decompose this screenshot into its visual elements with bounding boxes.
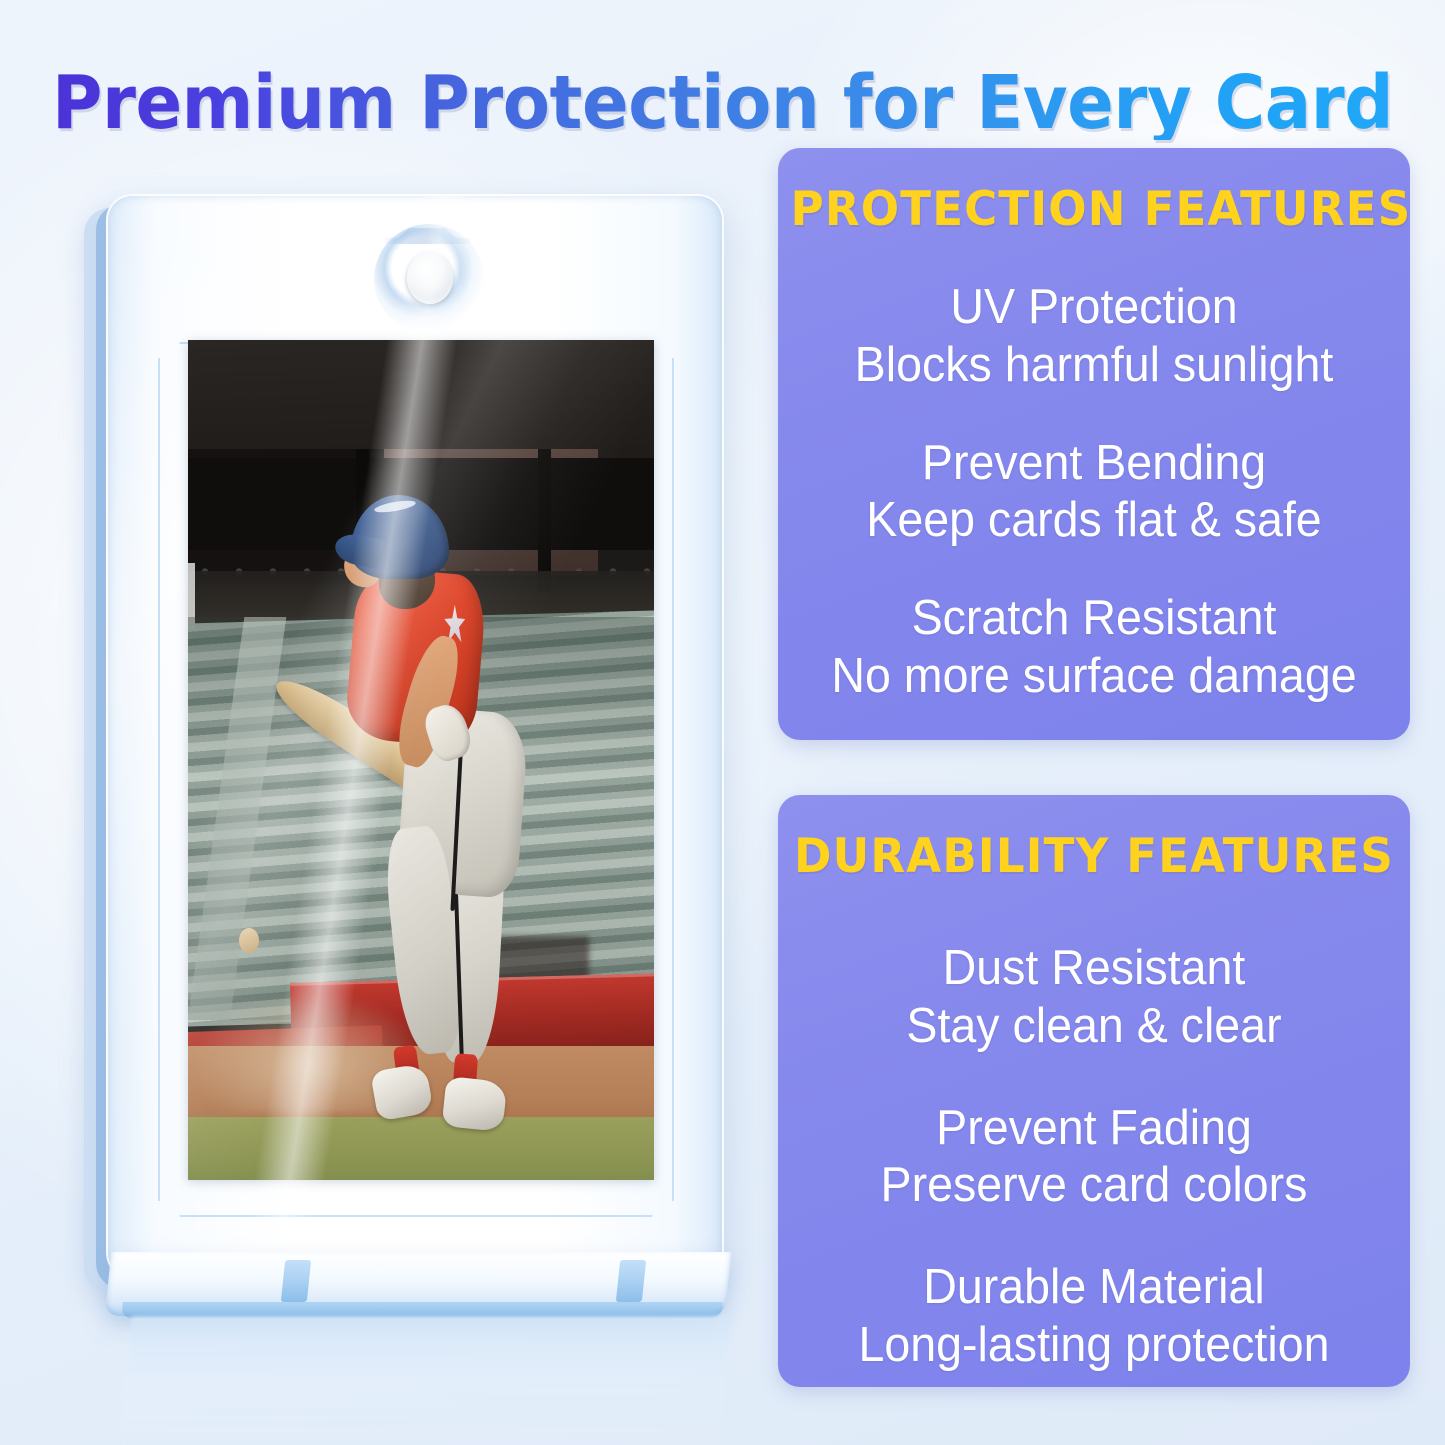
batter-cleat xyxy=(370,1062,434,1121)
feature-desc: Preserve card colors xyxy=(794,1157,1394,1215)
feature-item: UV Protection Blocks harmful sunlight xyxy=(778,279,1410,395)
protection-feature-list: UV Protection Blocks harmful sunlight Pr… xyxy=(778,279,1410,706)
magnet-closure xyxy=(374,224,484,334)
feature-item: Prevent Bending Keep cards flat & safe xyxy=(778,435,1410,551)
feature-item: Scratch Resistant No more surface damage xyxy=(778,590,1410,706)
durability-feature-list: Dust Resistant Stay clean & clear Preven… xyxy=(778,940,1410,1375)
base-notch xyxy=(616,1260,646,1302)
page-title: Premium Protection for Every Card xyxy=(51,66,1395,140)
protection-features-panel: PROTECTION FEATURES UV Protection Blocks… xyxy=(778,148,1410,740)
stadium-scene xyxy=(188,340,654,1180)
protection-panel-heading: PROTECTION FEATURES xyxy=(791,148,1398,237)
feature-desc: Blocks harmful sunlight xyxy=(794,337,1394,395)
durability-features-panel: DURABILITY FEATURES Dust Resistant Stay … xyxy=(778,795,1410,1387)
product-infographic: Premium Protection for Every Card xyxy=(0,0,1445,1445)
feature-desc: Stay clean & clear xyxy=(794,998,1394,1056)
base-notch xyxy=(281,1260,311,1302)
product-reflection xyxy=(117,1316,732,1445)
durability-panel-heading: DURABILITY FEATURES xyxy=(791,795,1398,884)
feature-desc: Keep cards flat & safe xyxy=(794,492,1394,550)
card-holder-body xyxy=(106,194,724,1279)
batter-cleat xyxy=(442,1076,508,1132)
feature-title: UV Protection xyxy=(794,279,1394,337)
feature-desc: Long-lasting protection xyxy=(794,1317,1394,1375)
feature-item: Durable Material Long-lasting protection xyxy=(778,1259,1410,1375)
trading-card-photo xyxy=(188,340,654,1180)
feature-title: Scratch Resistant xyxy=(794,590,1394,648)
product-image xyxy=(78,190,738,1340)
feature-title: Prevent Fading xyxy=(794,1100,1394,1158)
bat-knob xyxy=(239,928,259,953)
baseball-batter xyxy=(188,340,654,1180)
magnet-disc-icon xyxy=(407,252,453,304)
feature-item: Dust Resistant Stay clean & clear xyxy=(778,940,1410,1056)
feature-title: Prevent Bending xyxy=(794,435,1394,493)
feature-title: Durable Material xyxy=(794,1259,1394,1317)
feature-desc: No more surface damage xyxy=(794,648,1394,706)
feature-item: Prevent Fading Preserve card colors xyxy=(778,1100,1410,1216)
feature-title: Dust Resistant xyxy=(794,940,1394,998)
